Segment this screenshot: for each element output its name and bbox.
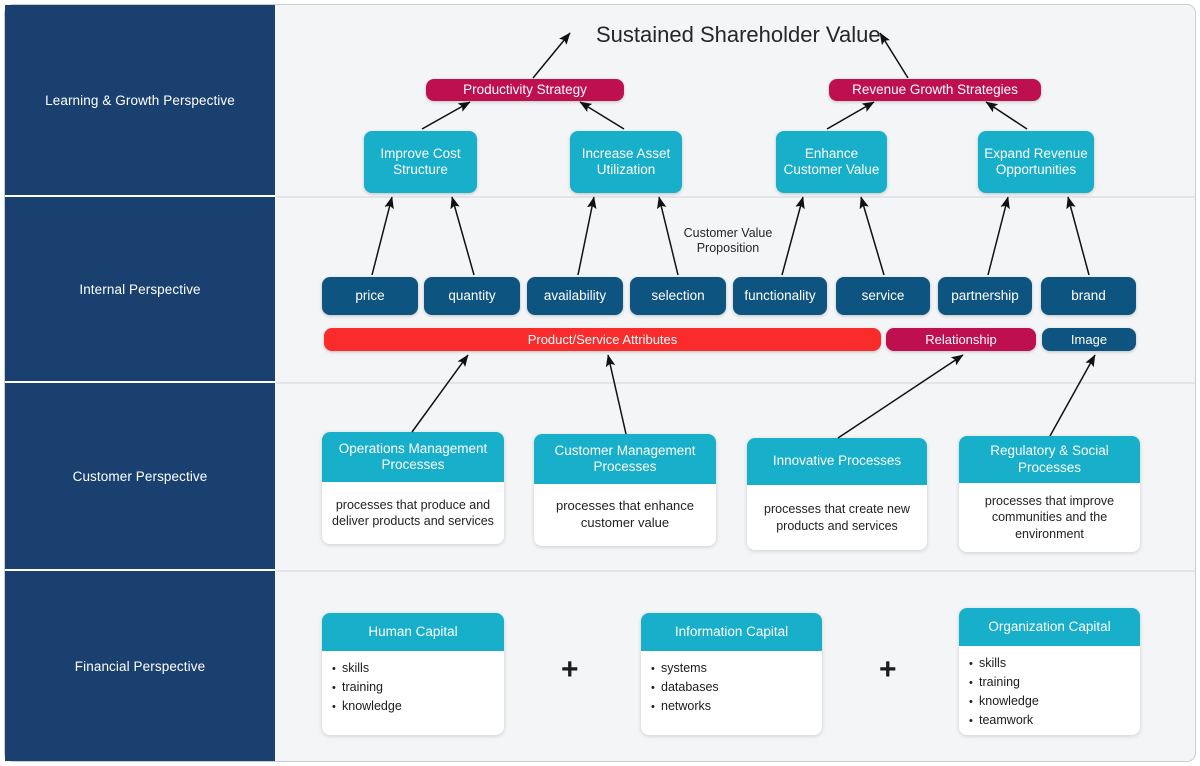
attribute-group-bar-image[interactable]: Image — [1042, 328, 1136, 351]
process-card-description: processes that enhance customer value — [534, 484, 716, 546]
capital-card-title: Organization Capital — [959, 608, 1140, 646]
attribute-label: availability — [544, 288, 606, 304]
capital-item-list: systems databases networks — [651, 659, 719, 716]
strategy-label: Productivity Strategy — [463, 82, 587, 98]
perspective-label: Customer Perspective — [73, 469, 208, 484]
perspective-band-internal[interactable]: Internal Perspective — [5, 197, 275, 383]
process-card-regulatory-social[interactable]: Regulatory & Social Processes processes … — [959, 436, 1140, 552]
perspective-label: Learning & Growth Perspective — [45, 93, 235, 108]
capital-item: databases — [651, 678, 719, 697]
capital-card-human-capital[interactable]: Human Capital skills training knowledge — [322, 613, 504, 735]
customer-value-proposition-label: Customer Value Proposition — [662, 226, 794, 257]
process-card-customer-management[interactable]: Customer Management Processes processes … — [534, 434, 716, 546]
objective-box-expand-revenue-opportunities[interactable]: Expand Revenue Opportunities — [978, 131, 1094, 193]
capital-item: knowledge — [332, 697, 402, 716]
attribute-box-price[interactable]: price — [322, 277, 418, 315]
attribute-group-label: Image — [1071, 332, 1107, 347]
attribute-box-partnership[interactable]: partnership — [938, 277, 1032, 315]
capital-card-items: skills training knowledge teamwork — [959, 646, 1140, 735]
capital-card-information-capital[interactable]: Information Capital systems databases ne… — [641, 613, 822, 735]
process-card-description: processes that create new products and s… — [747, 485, 927, 550]
objective-box-improve-cost-structure[interactable]: Improve Cost Structure — [364, 131, 477, 193]
attribute-label: functionality — [744, 288, 815, 304]
plus-operator-2: + — [879, 655, 897, 685]
attribute-box-functionality[interactable]: functionality — [733, 277, 827, 315]
capital-card-title: Information Capital — [641, 613, 822, 651]
capital-card-organization-capital[interactable]: Organization Capital skills training kno… — [959, 608, 1140, 735]
attribute-label: brand — [1071, 288, 1106, 304]
plus-operator-1: + — [561, 655, 579, 685]
process-card-description: processes that improve communities and t… — [959, 483, 1140, 552]
objective-label: Increase Asset Utilization — [570, 146, 682, 178]
attribute-box-selection[interactable]: selection — [630, 277, 726, 315]
row-divider-1 — [276, 196, 1195, 198]
capital-item: training — [332, 678, 402, 697]
attribute-box-quantity[interactable]: quantity — [424, 277, 520, 315]
capital-item: skills — [332, 659, 402, 678]
perspective-column: Learning & Growth Perspective Internal P… — [5, 5, 275, 761]
capital-item-list: skills training knowledge — [332, 659, 402, 716]
strategy-pill-revenue-growth[interactable]: Revenue Growth Strategies — [829, 79, 1041, 101]
capital-card-title: Human Capital — [322, 613, 504, 651]
attribute-label: selection — [651, 288, 704, 304]
strategy-label: Revenue Growth Strategies — [852, 82, 1018, 98]
capital-item: teamwork — [969, 711, 1039, 730]
strategy-pill-productivity[interactable]: Productivity Strategy — [426, 79, 624, 101]
process-card-description: processes that produce and deliver produ… — [322, 482, 504, 544]
process-card-innovative[interactable]: Innovative Processes processes that crea… — [747, 438, 927, 550]
objective-box-increase-asset-utilization[interactable]: Increase Asset Utilization — [570, 131, 682, 193]
perspective-band-financial[interactable]: Financial Perspective — [5, 571, 275, 761]
perspective-band-learning-growth[interactable]: Learning & Growth Perspective — [5, 5, 275, 197]
perspective-label: Internal Perspective — [79, 282, 200, 297]
capital-item: systems — [651, 659, 719, 678]
perspective-band-customer[interactable]: Customer Perspective — [5, 383, 275, 571]
attribute-group-bar-relationship[interactable]: Relationship — [886, 328, 1036, 351]
process-card-title: Regulatory & Social Processes — [959, 436, 1140, 483]
attribute-group-label: Product/Service Attributes — [528, 332, 678, 347]
strategy-map-canvas: Learning & Growth Perspective Internal P… — [0, 0, 1200, 766]
attribute-group-label: Relationship — [925, 332, 997, 347]
attribute-label: quantity — [448, 288, 495, 304]
attribute-label: service — [862, 288, 905, 304]
attribute-group-bar-product-service-attributes[interactable]: Product/Service Attributes — [324, 328, 881, 351]
attribute-box-service[interactable]: service — [836, 277, 930, 315]
process-card-title: Innovative Processes — [747, 438, 927, 485]
page-title: Sustained Shareholder Value — [596, 22, 881, 48]
objective-box-enhance-customer-value[interactable]: Enhance Customer Value — [776, 131, 887, 193]
capital-card-items: skills training knowledge — [322, 651, 504, 735]
capital-item: skills — [969, 654, 1039, 673]
process-card-title: Operations Management Processes — [322, 432, 504, 482]
objective-label: Improve Cost Structure — [364, 146, 477, 178]
capital-item: knowledge — [969, 692, 1039, 711]
attribute-box-availability[interactable]: availability — [527, 277, 623, 315]
row-divider-2 — [276, 382, 1195, 384]
attribute-label: partnership — [951, 288, 1019, 304]
objective-label: Expand Revenue Opportunities — [978, 146, 1094, 178]
capital-item: networks — [651, 697, 719, 716]
perspective-label: Financial Perspective — [75, 659, 205, 674]
capital-item: training — [969, 673, 1039, 692]
process-card-title: Customer Management Processes — [534, 434, 716, 484]
capital-card-items: systems databases networks — [641, 651, 822, 735]
attribute-label: price — [355, 288, 384, 304]
row-divider-3 — [276, 570, 1195, 572]
objective-label: Enhance Customer Value — [776, 146, 887, 178]
process-card-operations-management[interactable]: Operations Management Processes processe… — [322, 432, 504, 544]
capital-item-list: skills training knowledge teamwork — [969, 654, 1039, 730]
attribute-box-brand[interactable]: brand — [1041, 277, 1136, 315]
